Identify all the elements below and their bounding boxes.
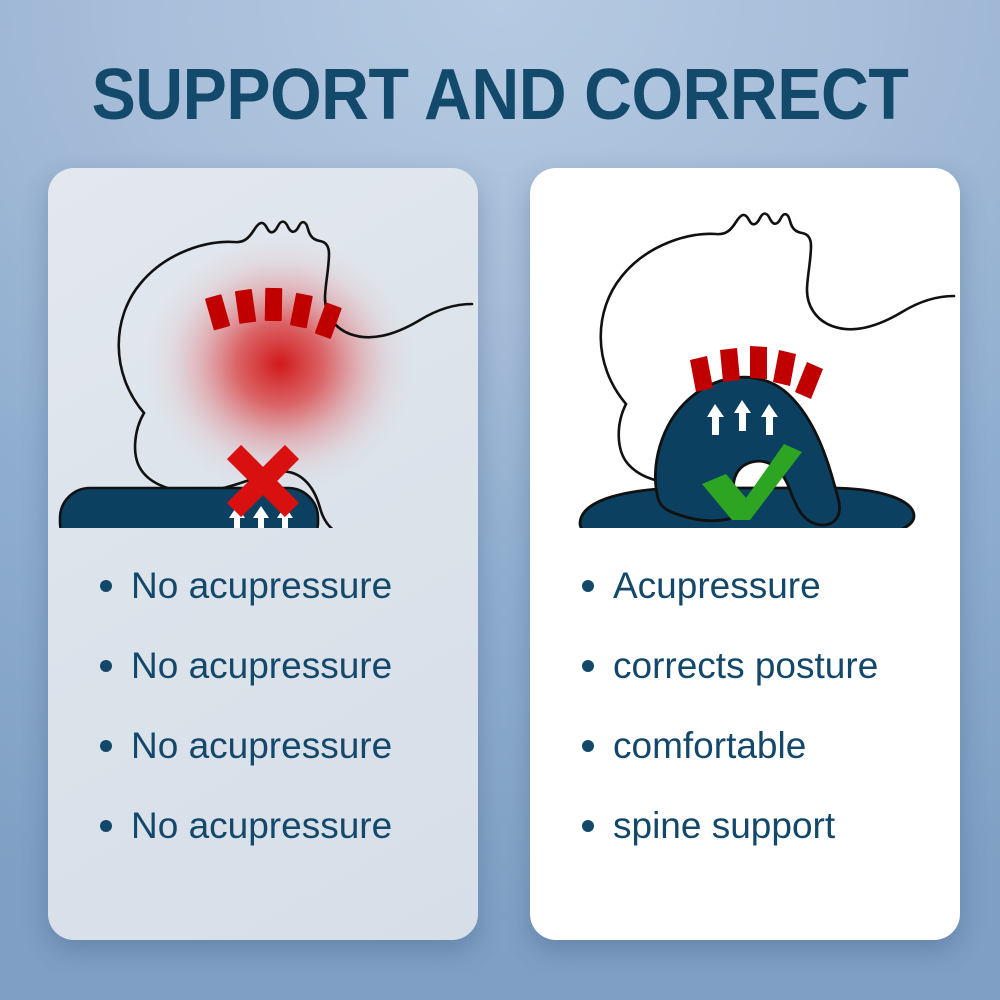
list-item: No acupressure xyxy=(48,626,478,706)
bullet-dot-icon xyxy=(100,660,112,672)
feature-list-incorrect: No acupressure No acupressure No acupres… xyxy=(48,546,478,866)
comparison-card-incorrect: No acupressure No acupressure No acupres… xyxy=(48,168,478,940)
list-item-label: comfortable xyxy=(613,726,806,766)
bullet-dot-icon xyxy=(100,580,112,592)
list-item-label: No acupressure xyxy=(131,646,392,686)
list-item: spine support xyxy=(530,786,960,866)
list-item: Acupressure xyxy=(530,546,960,626)
bullet-dot-icon xyxy=(582,580,594,592)
list-item: comfortable xyxy=(530,706,960,786)
infographic-canvas: SUPPORT AND CORRECT xyxy=(0,0,1000,1000)
bullet-dot-icon xyxy=(100,740,112,752)
bullet-dot-icon xyxy=(100,820,112,832)
feature-list-correct: Acupressure corrects posture comfortable… xyxy=(530,546,960,866)
pressure-dash xyxy=(750,346,767,379)
list-item-label: corrects posture xyxy=(613,646,878,686)
pressure-dash xyxy=(795,362,823,399)
check-glyph xyxy=(702,444,802,520)
bullet-dot-icon xyxy=(582,660,594,672)
list-item: No acupressure xyxy=(48,706,478,786)
list-item-label: spine support xyxy=(613,806,835,846)
bullet-dot-icon xyxy=(582,740,594,752)
pressure-dash xyxy=(265,288,283,321)
pressure-dash xyxy=(720,348,740,382)
list-item-label: Acupressure xyxy=(613,566,821,606)
page-title: SUPPORT AND CORRECT xyxy=(40,58,960,132)
cross-mark-icon xyxy=(48,430,478,530)
check-mark-icon xyxy=(530,430,960,530)
pressure-dash xyxy=(690,356,713,392)
list-item: corrects posture xyxy=(530,626,960,706)
bullet-dot-icon xyxy=(582,820,594,832)
pressure-dash xyxy=(773,350,796,386)
list-item: No acupressure xyxy=(48,546,478,626)
list-item-label: No acupressure xyxy=(131,806,392,846)
list-item-label: No acupressure xyxy=(131,726,392,766)
comparison-card-correct: Acupressure corrects posture comfortable… xyxy=(530,168,960,940)
list-item: No acupressure xyxy=(48,786,478,866)
list-item-label: No acupressure xyxy=(131,566,392,606)
